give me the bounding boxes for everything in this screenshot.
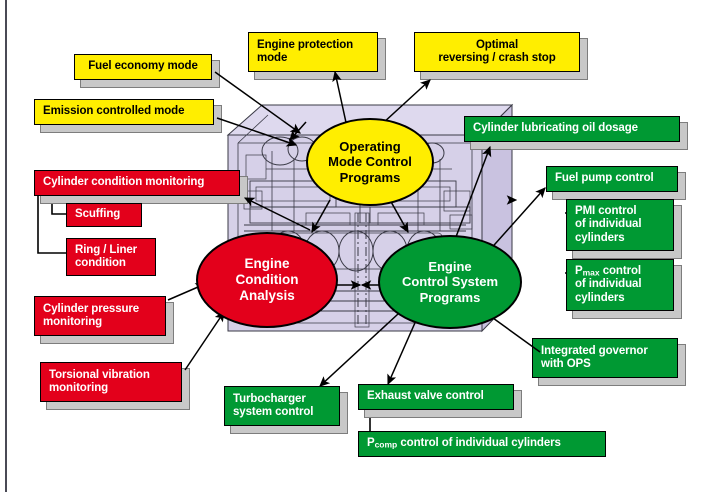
- node-integrated-governor-with-ops[interactable]: Integrated governor with OPS: [532, 338, 678, 378]
- node-label: Emission controlled mode: [43, 105, 205, 118]
- node-label: Pmax control of individual cylinders: [575, 265, 665, 305]
- node-label: Cylinder pressure monitoring: [43, 303, 157, 330]
- node-pcomp-control[interactable]: Pcomp control of individual cylinders: [358, 431, 606, 457]
- node-label: Torsional vibration monitoring: [49, 369, 173, 396]
- hub-label: Engine Condition Analysis: [236, 256, 299, 305]
- node-label: Cylinder condition monitoring: [43, 176, 231, 189]
- hub-operating-mode-control-programs[interactable]: Operating Mode Control Programs: [306, 118, 434, 206]
- frame-left-rule: [5, 0, 7, 492]
- node-label: Integrated governor with OPS: [541, 345, 669, 372]
- node-fuel-pump-control[interactable]: Fuel pump control: [546, 166, 678, 192]
- node-label: PMI control of individual cylinders: [575, 205, 665, 245]
- node-label: Fuel economy mode: [83, 60, 203, 73]
- node-label: Scuffing: [75, 208, 133, 221]
- node-cylinder-pressure-monitoring[interactable]: Cylinder pressure monitoring: [34, 296, 166, 336]
- node-torsional-vibration-monitoring[interactable]: Torsional vibration monitoring: [40, 362, 182, 402]
- node-cylinder-lubricating-oil-dosage[interactable]: Cylinder lubricating oil dosage: [464, 116, 680, 142]
- node-scuffing[interactable]: Scuffing: [66, 203, 142, 227]
- hub-engine-condition-analysis[interactable]: Engine Condition Analysis: [196, 232, 338, 328]
- node-label: Fuel pump control: [555, 172, 669, 185]
- node-label: Cylinder lubricating oil dosage: [473, 122, 671, 135]
- node-pmax-control[interactable]: Pmax control of individual cylinders: [566, 259, 674, 311]
- node-label: Optimal reversing / crash stop: [423, 39, 571, 66]
- node-exhaust-valve-control[interactable]: Exhaust valve control: [358, 384, 514, 410]
- node-optimal-reversing-crash-stop[interactable]: Optimal reversing / crash stop: [414, 32, 580, 72]
- diagram-canvas: Fuel economy mode Engine protection mode…: [0, 0, 706, 492]
- node-emission-controlled-mode[interactable]: Emission controlled mode: [34, 99, 214, 125]
- node-label: Engine protection mode: [257, 39, 369, 66]
- node-label: Exhaust valve control: [367, 390, 505, 403]
- hub-label: Engine Control System Programs: [402, 259, 498, 306]
- node-label: Ring / Liner condition: [75, 244, 147, 271]
- hub-engine-control-system-programs[interactable]: Engine Control System Programs: [378, 235, 522, 329]
- node-fuel-economy-mode[interactable]: Fuel economy mode: [74, 54, 212, 80]
- subscript-max: max: [583, 267, 600, 277]
- node-cylinder-condition-monitoring[interactable]: Cylinder condition monitoring: [34, 170, 240, 196]
- node-ring-liner-condition[interactable]: Ring / Liner condition: [66, 238, 156, 276]
- node-label: Turbocharger system control: [233, 393, 331, 420]
- node-turbocharger-system-control[interactable]: Turbocharger system control: [224, 386, 340, 426]
- node-engine-protection-mode[interactable]: Engine protection mode: [248, 32, 378, 72]
- node-label: Pcomp control of individual cylinders: [367, 437, 597, 450]
- node-pmi-control[interactable]: PMI control of individual cylinders: [566, 199, 674, 251]
- hub-label: Operating Mode Control Programs: [328, 139, 412, 186]
- subscript-comp: comp: [375, 440, 398, 450]
